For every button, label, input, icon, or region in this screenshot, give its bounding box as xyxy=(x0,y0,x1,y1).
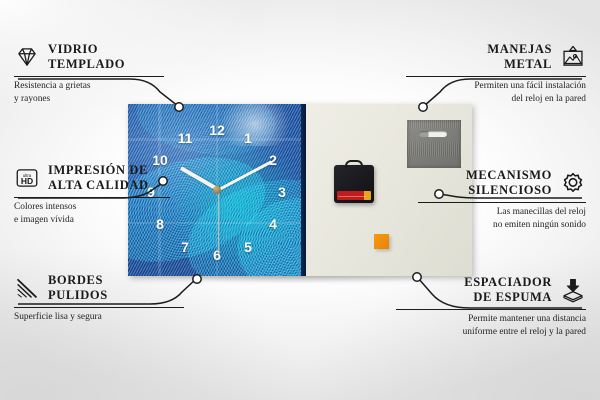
feature-divider xyxy=(406,76,586,77)
feature-title-line2: TEMPLADO xyxy=(48,57,125,72)
feature-desc-line1: Colores intensos xyxy=(14,201,170,214)
feature-espaciador-de-espuma[interactable]: ESPACIADOR DE ESPUMA Permite mantener un… xyxy=(396,275,586,338)
feature-divider xyxy=(418,202,586,203)
polished-edges-icon xyxy=(14,275,40,301)
feature-divider xyxy=(14,197,170,198)
feature-title-line2: SILENCIOSO xyxy=(466,183,552,198)
feature-title-line2: ALTA CALIDAD xyxy=(48,178,149,193)
gear-icon xyxy=(560,170,586,196)
connector-dot-bordes-pulidos xyxy=(193,275,201,283)
feature-desc-line2: y rayones xyxy=(14,93,164,106)
feature-desc-line1: Permiten una fácil instalación xyxy=(406,80,586,93)
feature-title-line2: DE ESPUMA xyxy=(464,290,552,305)
picture-frame-icon xyxy=(560,44,586,70)
feature-desc-line2: del reloj en la pared xyxy=(406,93,586,106)
feature-title-line2: PULIDOS xyxy=(48,288,108,303)
feature-vidrio-templado[interactable]: VIDRIO TEMPLADO Resistencia a grietas y … xyxy=(14,42,164,105)
diamond-icon xyxy=(14,44,40,70)
feature-manejas-metal[interactable]: MANEJAS METAL Permiten una fácil instala… xyxy=(406,42,586,105)
feature-desc-line2: no emiten ningún sonido xyxy=(418,219,586,232)
feature-desc-line1: Superficie lisa y segura xyxy=(14,311,184,324)
feature-desc-line2: uniforme entre el reloj y la pared xyxy=(396,326,586,339)
feature-title-line1: BORDES xyxy=(48,273,108,288)
feature-divider xyxy=(14,307,184,308)
foam-spacer-icon xyxy=(560,277,586,303)
ultra-hd-icon-large-text: HD xyxy=(21,176,33,186)
feature-divider xyxy=(396,309,586,310)
feature-title-line1: MANEJAS xyxy=(487,42,552,57)
feature-title-line1: IMPRESIÓN DE xyxy=(48,163,149,178)
connector-dot-vidrio-templado xyxy=(175,103,183,111)
feature-divider xyxy=(14,76,164,77)
feature-title-line1: MECANISMO xyxy=(466,168,552,183)
ultra-hd-icon: ultra HD xyxy=(14,165,40,191)
feature-desc-line1: Permite mantener una distancia xyxy=(396,313,586,326)
feature-impresion-alta-calidad[interactable]: ultra HD IMPRESIÓN DE ALTA CALIDAD Color… xyxy=(14,163,170,226)
feature-desc-line1: Resistencia a grietas xyxy=(14,80,164,93)
feature-desc-line2: e imagen vívida xyxy=(14,214,170,227)
feature-bordes-pulidos[interactable]: BORDES PULIDOS Superficie lisa y segura xyxy=(14,273,184,324)
feature-title-line2: METAL xyxy=(487,57,552,72)
feature-mecanismo-silencioso[interactable]: MECANISMO SILENCIOSO Las manecillas del … xyxy=(418,168,586,231)
feature-title-line1: ESPACIADOR xyxy=(464,275,552,290)
feature-desc-line1: Las manecillas del reloj xyxy=(418,206,586,219)
feature-title-line1: VIDRIO xyxy=(48,42,125,57)
